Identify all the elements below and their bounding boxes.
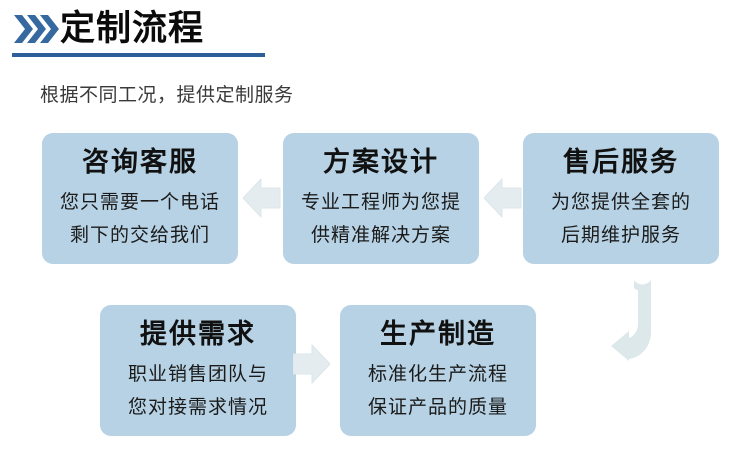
arrow-right-icon: [484, 176, 522, 220]
flow-step-line: 您只需要一个电话: [42, 186, 238, 219]
flow-step-description: 您只需要一个电话 剩下的交给我们: [42, 186, 238, 252]
arrow-curve-down-left-icon: [610, 278, 654, 362]
flow-step-line: 后期维护服务: [523, 219, 719, 252]
flow-step-line: 职业销售团队与: [100, 358, 296, 391]
page-title: 定制流程: [60, 6, 204, 52]
flow-step-production[interactable]: 生产制造 标准化生产流程 保证产品的质量: [340, 305, 536, 436]
flow-step-line: 标准化生产流程: [340, 358, 536, 391]
flow-step-line: 供精准解决方案: [283, 219, 479, 252]
triple-chevron-right-icon: [13, 14, 59, 44]
flow-step-title: 生产制造: [340, 314, 536, 355]
arrow-right-icon: [243, 176, 281, 220]
page-subtitle: 根据不同工况，提供定制服务: [40, 80, 294, 107]
flow-step-design[interactable]: 方案设计 专业工程师为您提 供精准解决方案: [283, 133, 479, 264]
flow-step-line: 您对接需求情况: [100, 391, 296, 424]
page-header: 定制流程 根据不同工况，提供定制服务: [0, 0, 750, 66]
flow-step-line: 为您提供全套的: [523, 186, 719, 219]
flow-step-consult[interactable]: 咨询客服 您只需要一个电话 剩下的交给我们: [42, 133, 238, 264]
flow-step-description: 为您提供全套的 后期维护服务: [523, 186, 719, 252]
flow-step-line: 专业工程师为您提: [283, 186, 479, 219]
flow-step-line: 剩下的交给我们: [42, 219, 238, 252]
flow-step-title: 提供需求: [100, 314, 296, 355]
flow-step-title: 咨询客服: [42, 142, 238, 183]
flow-step-line: 保证产品的质量: [340, 391, 536, 424]
flow-step-description: 标准化生产流程 保证产品的质量: [340, 358, 536, 424]
flow-step-title: 售后服务: [523, 142, 719, 183]
flow-step-title: 方案设计: [283, 142, 479, 183]
arrow-left-icon: [293, 342, 331, 386]
flow-step-requirement[interactable]: 提供需求 职业销售团队与 您对接需求情况: [100, 305, 296, 436]
title-underline-rule: [12, 53, 265, 57]
flow-step-description: 职业销售团队与 您对接需求情况: [100, 358, 296, 424]
flow-step-aftersales[interactable]: 售后服务 为您提供全套的 后期维护服务: [523, 133, 719, 264]
flow-step-description: 专业工程师为您提 供精准解决方案: [283, 186, 479, 252]
